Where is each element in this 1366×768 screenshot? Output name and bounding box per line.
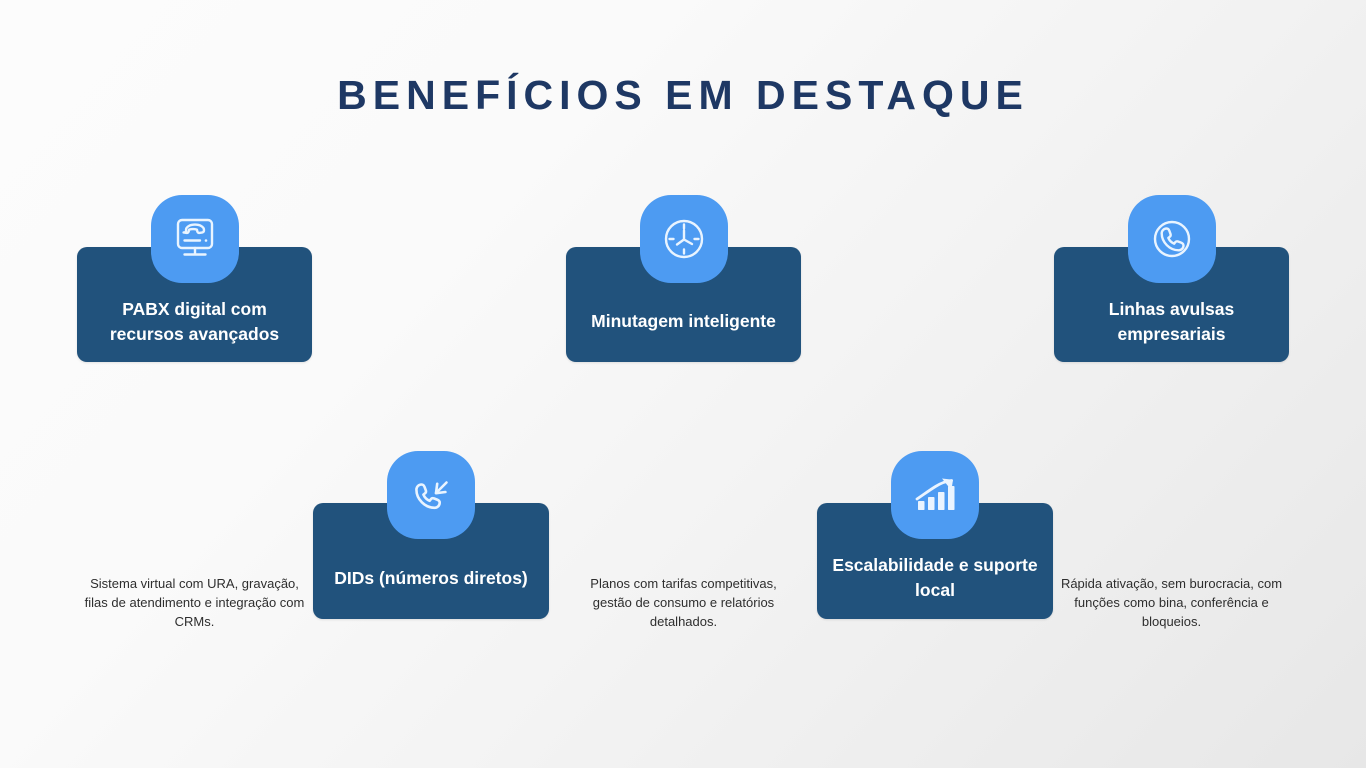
- desktop-phone-icon: [151, 195, 239, 283]
- card-title: DIDs (números diretos): [320, 566, 542, 591]
- card-title: PABX digital com recursos avançados: [77, 297, 312, 347]
- card-title: Minutagem inteligente: [577, 309, 790, 334]
- phone-circle-icon: [1128, 195, 1216, 283]
- card-description: Sistema virtual com URA, gravação, filas…: [70, 574, 320, 631]
- card-title: Linhas avulsas empresariais: [1054, 297, 1289, 347]
- clock-icon: [640, 195, 728, 283]
- card-description: Planos com tarifas competitivas, gestão …: [559, 574, 809, 631]
- card-title: Escalabilidade e suporte local: [817, 553, 1053, 603]
- growth-chart-icon: [891, 451, 979, 539]
- page-title: BENEFÍCIOS EM DESTAQUE: [0, 72, 1366, 119]
- card-description: Rápida ativação, sem burocracia, com fun…: [1041, 574, 1303, 631]
- incoming-call-icon: [387, 451, 475, 539]
